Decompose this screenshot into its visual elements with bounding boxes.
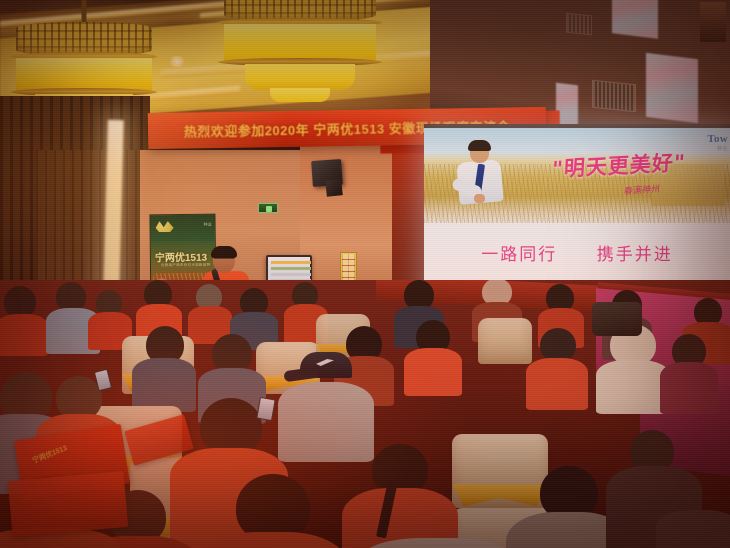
audience-area: 宁两优1513 xyxy=(0,280,730,548)
lantern-rod-left xyxy=(82,0,87,24)
lantern-tier2-right xyxy=(245,64,354,90)
monitor-row-3 xyxy=(271,273,311,276)
slide-tagline: 一路同行 携手并进 xyxy=(424,240,730,265)
audience-backpack xyxy=(592,302,642,336)
slide-subheadline: 春满神州 xyxy=(624,182,661,198)
tote-bag-text: 宁两优1513 xyxy=(31,444,69,466)
presenter-hair xyxy=(211,246,237,258)
projection-screen: "明天更美好" 春满神州 Tow 种业 1513 一路同行 携手并进 xyxy=(424,128,730,303)
monitor-row-2 xyxy=(271,267,311,270)
audience-torso xyxy=(278,382,374,462)
audience-torso xyxy=(656,510,730,548)
slide-tagline-right: 携手并进 xyxy=(597,245,673,264)
audience-chair xyxy=(452,434,548,508)
conference-hall-photo: 热烈欢迎参加2020年 宁两优1513 安徽现场观摩交流会 "明天更美好" 春满… xyxy=(0,0,730,548)
audience-torso xyxy=(0,314,48,356)
slide-figure-hand xyxy=(474,194,485,203)
conference-tote-bag xyxy=(8,471,128,537)
lantern-body-left xyxy=(16,58,152,92)
audience-torso xyxy=(132,358,196,412)
downlight-1 xyxy=(168,56,186,67)
ac-vent-1 xyxy=(592,80,636,113)
audience-chair xyxy=(478,318,532,364)
lantern-body-right xyxy=(224,24,376,62)
slide-tagline-left: 一路同行 xyxy=(481,245,557,264)
lantern-lattice-left xyxy=(16,22,152,56)
chair-bow xyxy=(452,484,548,506)
lantern-tier3-right xyxy=(270,88,331,102)
audience-torso xyxy=(596,360,670,414)
audience-torso xyxy=(660,362,718,414)
exit-sign-icon xyxy=(258,203,278,213)
slide-brand-sublabel: 种业 xyxy=(717,145,728,152)
audience-head xyxy=(540,328,576,362)
slide-brand-logo: Tow xyxy=(707,133,728,145)
ceiling-decor-panel-2 xyxy=(646,53,698,123)
slide-photo-banner: "明天更美好" 春满神州 Tow 种业 1513 xyxy=(424,128,730,223)
slide-agronomist-figure xyxy=(458,142,510,214)
presenter-glasses xyxy=(214,258,234,263)
ceiling-decor-panel-1 xyxy=(612,0,658,39)
slide-figure-hair xyxy=(468,140,491,151)
ac-vent-2 xyxy=(566,13,592,36)
ceiling-fixture-right xyxy=(700,2,726,42)
audience-torso xyxy=(526,358,588,410)
ceiling-lantern-right xyxy=(224,0,376,106)
audience-torso xyxy=(404,348,462,396)
wall-speaker-secondary-icon xyxy=(325,179,343,197)
standee-brand-label: 种业 xyxy=(204,222,212,227)
monitor-row-1 xyxy=(271,261,311,264)
